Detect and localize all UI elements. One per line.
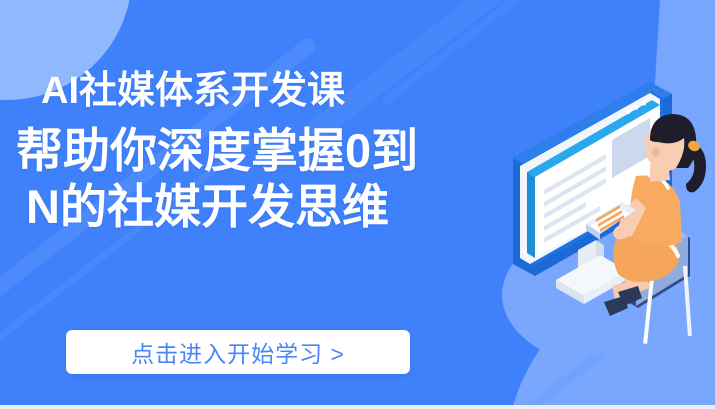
cta-button[interactable]: 点击进入开始学习 > <box>66 330 410 374</box>
bottom-strip <box>0 405 715 409</box>
promo-banner: AI社媒体系开发课 帮助你深度掌握0到 N的社媒开发思维 点击进入开始学习 > <box>0 0 715 409</box>
illustration-person-at-computer <box>500 80 715 355</box>
headline-line-2: 帮助你深度掌握0到 <box>16 127 518 174</box>
headline-line-1: AI社媒体系开发课 <box>38 72 518 110</box>
headline: AI社媒体系开发课 帮助你深度掌握0到 N的社媒开发思维 <box>38 72 518 230</box>
headline-line-3: N的社媒开发思维 <box>26 183 518 230</box>
cta-button-label: 点击进入开始学习 > <box>131 335 345 369</box>
